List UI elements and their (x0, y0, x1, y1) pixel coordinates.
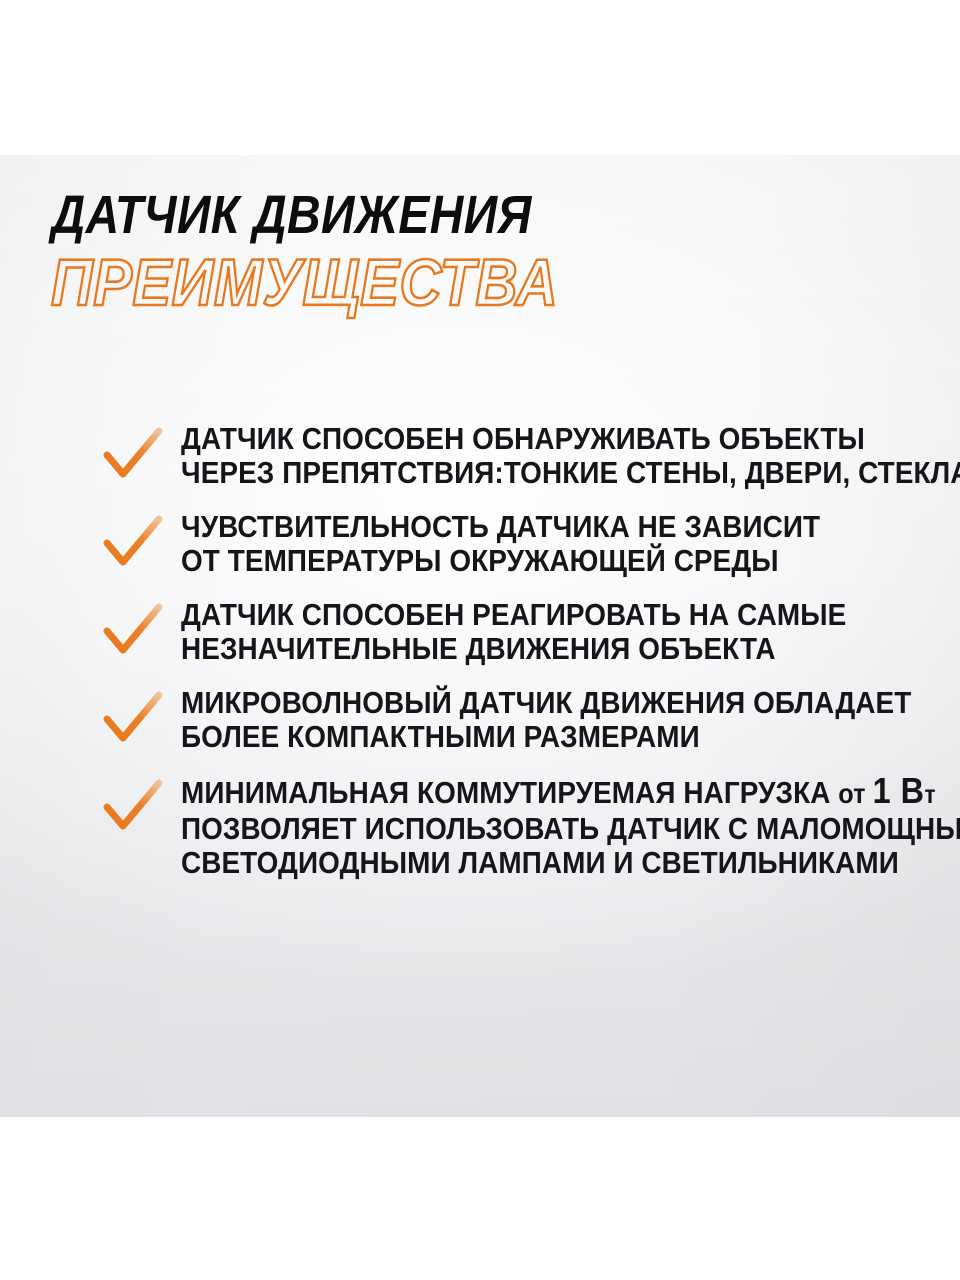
text-line: ЧЕРЕЗ ПРЕПЯТСТВИЯ:ТОНКИЕ СТЕНЫ, ДВЕРИ, С… (181, 456, 960, 490)
list-item: ДАТЧИК СПОСОБЕН ОБНАРУЖИВАТЬ ОБЪЕКТЫ ЧЕР… (0, 422, 960, 490)
text-line: ЧУВСТВИТЕЛЬНОСТЬ ДАТЧИКА НЕ ЗАВИСИТ (181, 510, 820, 544)
list-item: ДАТЧИК СПОСОБЕН РЕАГИРОВАТЬ НА САМЫЕ НЕЗ… (0, 598, 960, 666)
list-item-text: МИНИМАЛЬНАЯ КОММУТИРУЕМАЯ НАГРУЗКА от 1 … (181, 774, 960, 880)
checkmark-icon (100, 601, 166, 663)
text-line: СВЕТОДИОДНЫМИ ЛАМПАМИ И СВЕТИЛЬНИКАМИ (181, 846, 960, 880)
text-line: НЕЗНАЧИТЕЛЬНЫЕ ДВИЖЕНИЯ ОБЪЕКТА (181, 632, 846, 666)
text-line: БОЛЕЕ КОМПАКТНЫМИ РАЗМЕРАМИ (181, 720, 911, 754)
text-line: ОТ ТЕМПЕРАТУРЫ ОКРУЖАЮЩЕЙ СРЕДЫ (181, 544, 820, 578)
checkmark-icon (100, 425, 166, 487)
unit-prefix: от (838, 778, 872, 809)
list-item: МИНИМАЛЬНАЯ КОММУТИРУЕМАЯ НАГРУЗКА от 1 … (0, 774, 960, 880)
text-line-with-unit: МИНИМАЛЬНАЯ КОММУТИРУЕМАЯ НАГРУЗКА от 1 … (181, 774, 960, 812)
list-item-text: ДАТЧИК СПОСОБЕН ОБНАРУЖИВАТЬ ОБЪЕКТЫ ЧЕР… (181, 422, 960, 490)
text-line: ПОЗВОЛЯЕТ ИСПОЛЬЗОВАТЬ ДАТЧИК С МАЛОМОЩН… (181, 812, 960, 846)
checkmark-icon (100, 513, 166, 575)
list-item-text: ДАТЧИК СПОСОБЕН РЕАГИРОВАТЬ НА САМЫЕ НЕЗ… (181, 598, 846, 666)
text-line: ДАТЧИК СПОСОБЕН ОБНАРУЖИВАТЬ ОБЪЕКТЫ (181, 422, 960, 456)
checkmark-icon (100, 689, 166, 751)
benefits-list: ДАТЧИК СПОСОБЕН ОБНАРУЖИВАТЬ ОБЪЕКТЫ ЧЕР… (0, 422, 960, 880)
unit-value: 1 В (873, 770, 925, 811)
heading-block: ДАТЧИК ДВИЖЕНИЯ ПРЕИМУЩЕСТВА (0, 186, 960, 318)
poster-canvas: ДАТЧИК ДВИЖЕНИЯ ПРЕИМУЩЕСТВА (0, 0, 960, 1280)
page-title: ДАТЧИК ДВИЖЕНИЯ (0, 186, 826, 244)
checkmark-icon (100, 777, 166, 839)
list-item: ЧУВСТВИТЕЛЬНОСТЬ ДАТЧИКА НЕ ЗАВИСИТ ОТ Т… (0, 510, 960, 578)
text-line: МИКРОВОЛНОВЫЙ ДАТЧИК ДВИЖЕНИЯ ОБЛАДАЕТ (181, 686, 911, 720)
list-item-text: ЧУВСТВИТЕЛЬНОСТЬ ДАТЧИКА НЕ ЗАВИСИТ ОТ Т… (181, 510, 820, 578)
list-item-text: МИКРОВОЛНОВЫЙ ДАТЧИК ДВИЖЕНИЯ ОБЛАДАЕТ Б… (181, 686, 911, 754)
page-subtitle: ПРЕИМУЩЕСТВА (0, 246, 845, 318)
list-item: МИКРОВОЛНОВЫЙ ДАТЧИК ДВИЖЕНИЯ ОБЛАДАЕТ Б… (0, 686, 960, 754)
unit-suffix: т (924, 781, 935, 809)
text-line: ДАТЧИК СПОСОБЕН РЕАГИРОВАТЬ НА САМЫЕ (181, 598, 846, 632)
text-line: МИНИМАЛЬНАЯ КОММУТИРУЕМАЯ НАГРУЗКА (181, 775, 838, 810)
